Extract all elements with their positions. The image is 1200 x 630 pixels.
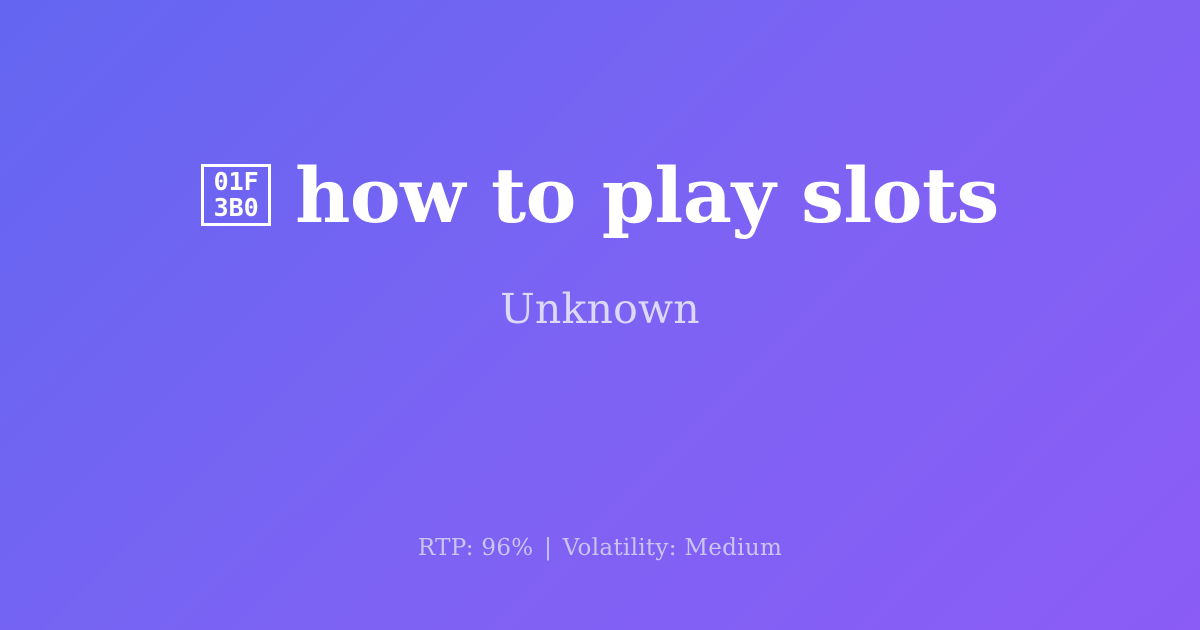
volatility-value: Medium (684, 535, 782, 561)
og-preview-card: 01F 3B0 how to play slots Unknown RTP: 9… (0, 0, 1200, 630)
rtp-value: 96% (481, 535, 533, 561)
title-row: 01F 3B0 how to play slots (60, 156, 1140, 236)
hero-section: 01F 3B0 how to play slots Unknown (0, 0, 1200, 490)
missing-glyph-codepoint-bottom: 3B0 (214, 195, 259, 222)
missing-glyph-codepoint-top: 01F (214, 169, 259, 196)
stats-separator: | (541, 535, 555, 561)
game-stats-line: RTP: 96% | Volatility: Medium (0, 534, 1200, 564)
provider-subtitle: Unknown (500, 285, 700, 334)
volatility-label: Volatility: (563, 535, 677, 561)
slot-machine-emoji: 01F 3B0 (201, 164, 271, 226)
page-title: how to play slots (295, 156, 999, 236)
rtp-label: RTP: (418, 535, 474, 561)
